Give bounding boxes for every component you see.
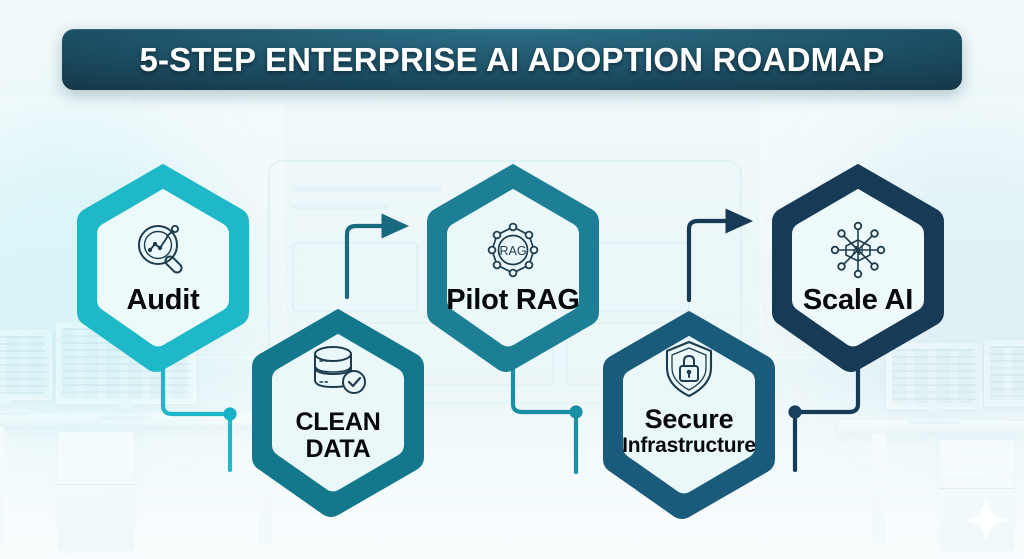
page-title: 5-STEP ENTERPRISE AI ADOPTION ROADMAP — [139, 41, 884, 79]
rag-icon-text: RAG — [499, 244, 526, 258]
step-label-audit: Audit — [126, 285, 199, 316]
step-hexagon-pilot-rag[interactable]: RAG Pilot RAG — [423, 160, 603, 374]
step-label-scale-ai: Scale AI — [803, 285, 913, 316]
step-hexagon-clean-data[interactable]: CLEAN DATA — [248, 305, 428, 519]
shield-lock-icon — [661, 339, 717, 399]
step-hexagon-secure-infrastructure[interactable]: Secure Infrastructure — [599, 307, 779, 521]
infographic-canvas: 5-STEP ENTERPRISE AI ADOPTION ROADMAP Au… — [0, 0, 1024, 559]
step-hexagon-scale-ai[interactable]: AI Scale AI — [768, 160, 948, 374]
database-check-icon — [307, 343, 369, 401]
step-hexagon-audit[interactable]: Audit — [73, 160, 253, 374]
ai-icon-text: AI — [852, 244, 864, 258]
magnifier-chart-icon — [131, 219, 195, 281]
rag-network-icon: RAG — [482, 219, 544, 281]
step-label-pilot-rag: Pilot RAG — [446, 285, 580, 316]
ai-network-icon: AI — [826, 219, 890, 281]
sparkle-icon — [962, 496, 1010, 544]
title-banner: 5-STEP ENTERPRISE AI ADOPTION ROADMAP — [62, 29, 962, 90]
step-label-clean-data: CLEAN DATA — [295, 409, 380, 462]
step-label-secure-infrastructure: Secure Infrastructure — [622, 405, 756, 457]
